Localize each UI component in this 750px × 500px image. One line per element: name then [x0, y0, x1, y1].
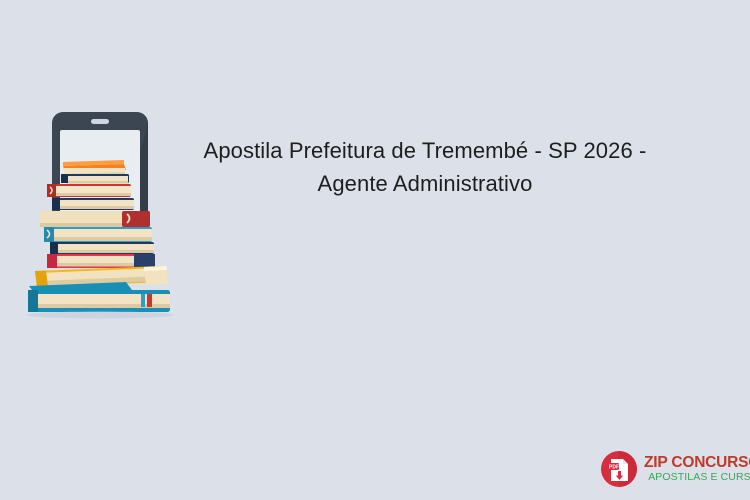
book-navy-3: [50, 242, 154, 254]
book-teal-1: [44, 227, 152, 242]
logo-tagline: APOSTILAS E CURSOS: [644, 471, 750, 484]
book-navy-2: [52, 198, 134, 210]
zip-concursos-logo[interactable]: PDF ZIP CONCURSOS APOSTILAS E CURSOS: [600, 449, 738, 489]
product-title: Apostila Prefeitura de Tremembé - SP 202…: [185, 134, 665, 200]
book-navy-1: [61, 174, 129, 184]
book-bottom-teal: [26, 282, 174, 319]
logo-brand-name: ZIP CONCURSOS: [644, 454, 750, 471]
book-dark-red: [40, 211, 150, 227]
book-red-1: [47, 184, 131, 197]
product-title-line-1: Apostila Prefeitura de Tremembé - SP 202…: [185, 134, 665, 167]
product-title-line-2: Agente Administrativo: [185, 167, 665, 200]
svg-text:PDF: PDF: [609, 465, 619, 471]
pdf-download-icon: PDF: [600, 450, 638, 488]
stack-of-books-with-tablet-illustration: [14, 108, 184, 320]
book-crimson: [47, 254, 155, 268]
bookmark-red: [147, 294, 152, 307]
promo-banner: Apostila Prefeitura de Tremembé - SP 202…: [0, 0, 750, 500]
logo-text: ZIP CONCURSOS APOSTILAS E CURSOS: [644, 454, 750, 484]
bookmark-teal: [141, 294, 145, 307]
